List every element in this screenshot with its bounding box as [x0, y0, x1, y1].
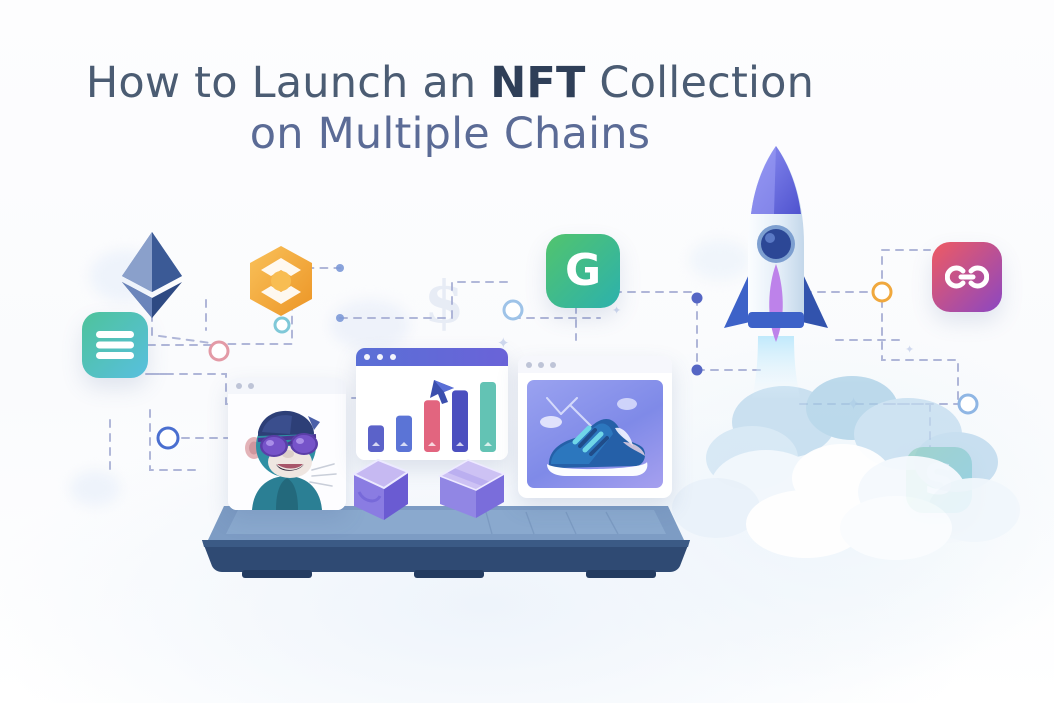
nft-parcel-box — [436, 456, 508, 522]
window-dot — [364, 354, 370, 360]
nft-sneaker-window[interactable] — [518, 356, 672, 498]
window-dot — [248, 383, 254, 389]
window-titlebar — [518, 356, 672, 373]
bnb-hexagon-icon — [246, 244, 316, 318]
bar-chart-bar — [396, 416, 412, 452]
headline-text-after: Collection — [586, 58, 815, 108]
node-dot-indigo — [692, 293, 703, 304]
headline-bold-nft: NFT — [490, 58, 585, 108]
bar-chart — [356, 366, 508, 460]
node-ring-orange — [873, 283, 891, 301]
bored-ape-artwork — [228, 394, 346, 510]
node-dot-small — [336, 314, 344, 322]
window-dot — [236, 383, 242, 389]
window-dot — [377, 354, 383, 360]
g-letter-chip-icon[interactable]: G — [546, 234, 620, 308]
sneaker-artwork-frame — [527, 380, 663, 488]
window-dot — [526, 362, 532, 368]
headline-text-before: How to Launch an — [86, 58, 490, 108]
node-ring-blue — [504, 301, 522, 319]
nft-cube-box — [350, 458, 412, 522]
node-ring-pink — [210, 342, 228, 360]
chain-link-chip-icon[interactable] — [932, 242, 1002, 312]
window-dot — [550, 362, 556, 368]
bar-chart-window[interactable] — [356, 348, 508, 460]
headline-line-1: How to Launch an NFT Collection — [0, 58, 900, 109]
node-ring-small — [275, 318, 289, 332]
window-titlebar — [228, 378, 346, 394]
node-ring-teal — [158, 428, 178, 448]
ethereum-diamond-icon — [120, 232, 184, 318]
illustration-canvas: $ ✦ ✦ ✦ ✦ — [0, 0, 1054, 703]
bar-chart-bar — [480, 382, 496, 452]
nft-ape-card[interactable] — [228, 378, 346, 510]
window-dot — [390, 354, 396, 360]
window-dot — [538, 362, 544, 368]
sneaker-artwork — [527, 380, 663, 488]
g-letter-chip-label: G — [565, 249, 601, 293]
bar-chart-bar — [368, 425, 384, 452]
rocket — [706, 140, 846, 400]
list-menu-chip-icon[interactable] — [82, 312, 148, 378]
window-titlebar — [356, 348, 508, 366]
node-dot-small — [336, 264, 344, 272]
